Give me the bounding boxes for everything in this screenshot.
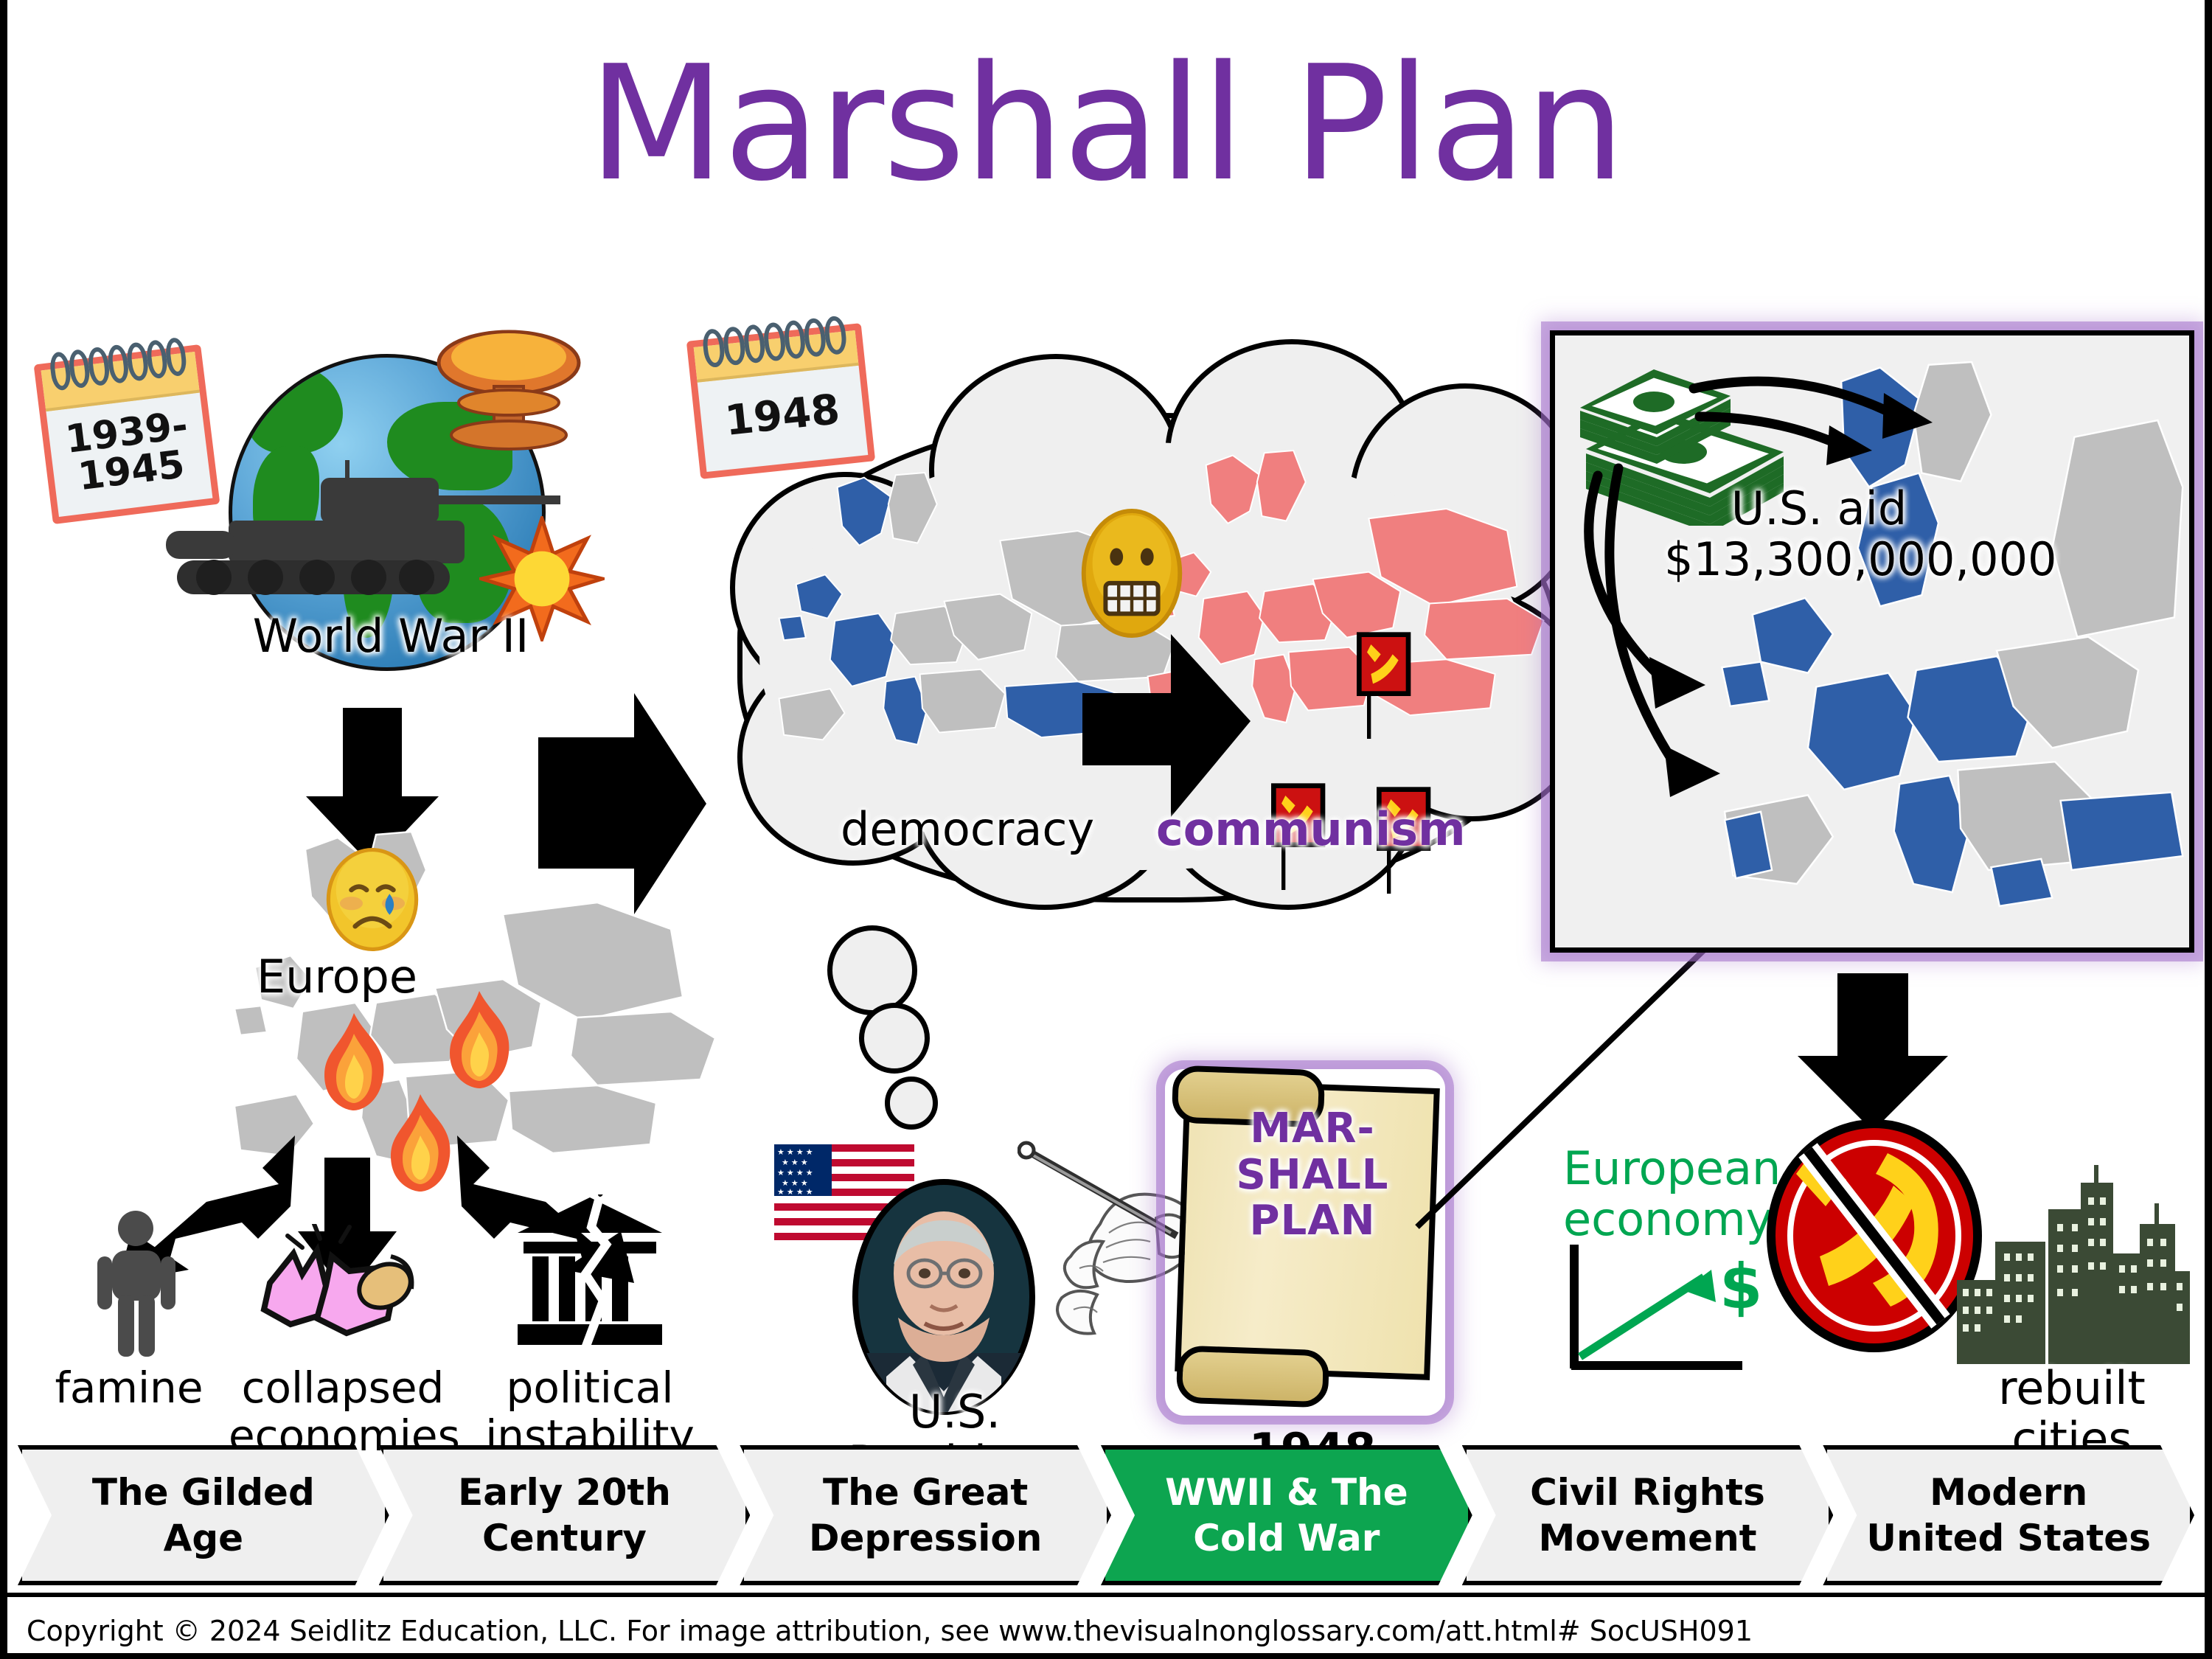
- political-instability-line1: political: [479, 1364, 700, 1412]
- aid-arrows: [1555, 335, 2189, 947]
- broken-piggy-bank-icon: [243, 1224, 428, 1364]
- timeline-item-line1: The Gilded: [92, 1471, 315, 1514]
- page-title: Marshall Plan: [7, 44, 2205, 203]
- grimacing-face-icon: [1077, 509, 1187, 638]
- hammer-and-sickle-flag-icon: [1355, 630, 1414, 741]
- city-skyline-icon: [1954, 1165, 2190, 1364]
- timeline-item-gilded-age[interactable]: The Gilded Age: [18, 1445, 389, 1585]
- footer-bottom-border: [7, 1653, 2205, 1659]
- timeline-item-civil-rights-movement[interactable]: Civil Rights Movement: [1462, 1445, 1834, 1585]
- collapsed-economies-line1: collapsed: [229, 1364, 457, 1412]
- timeline-item-modern-united-states[interactable]: Modern United States: [1823, 1445, 2194, 1585]
- calendar-year: 1948: [697, 361, 868, 472]
- svg-text:★ ★ ★: ★ ★ ★: [782, 1158, 808, 1167]
- timeline-item-line1: Modern: [1930, 1471, 2087, 1514]
- truman-portrait-avatar: [848, 1176, 1040, 1419]
- infographic-page: Marshall Plan 1939- 1945: [0, 0, 2212, 1659]
- europe-label: Europe: [257, 951, 417, 1002]
- svg-text:★ ★ ★ ★: ★ ★ ★ ★: [777, 1148, 813, 1157]
- calendar-1948: 1948: [686, 323, 875, 479]
- thought-trail-dot: [859, 1003, 930, 1074]
- timeline-item-line1: The Great: [823, 1471, 1028, 1514]
- timeline[interactable]: The Gilded Age Early 20th Century The Gr…: [18, 1445, 2194, 1585]
- timeline-item-line2: Cold War: [1193, 1517, 1380, 1559]
- broken-government-building-icon: [509, 1194, 671, 1349]
- us-aid-label: U.S. aid $13,300,000,000: [1664, 483, 1974, 585]
- us-aid-amount: $13,300,000,000: [1664, 534, 1974, 585]
- timeline-item-wwii-cold-war[interactable]: WWII & The Cold War: [1101, 1445, 1472, 1585]
- famine-label: famine: [29, 1364, 229, 1412]
- copyright-text: Copyright © 2024 Seidlitz Education, LLC…: [27, 1615, 1753, 1647]
- svg-text:★ ★ ★ ★: ★ ★ ★ ★: [777, 1188, 813, 1197]
- crying-face-icon: [324, 848, 420, 951]
- thought-trail-dot: [885, 1077, 938, 1130]
- democracy-label: democracy: [841, 804, 1094, 855]
- timeline-item-line2: Age: [164, 1517, 243, 1559]
- us-aid-panel: U.S. aid $13,300,000,000: [1550, 330, 2194, 953]
- arrow-down-aid-to-results: [1792, 973, 1954, 1135]
- timeline-item-line2: United States: [1866, 1517, 2151, 1559]
- timeline-item-line2: Movement: [1538, 1517, 1756, 1559]
- us-aid-label-line1: U.S. aid: [1664, 483, 1974, 534]
- timeline-item-line2: Century: [482, 1517, 647, 1559]
- rebuilt-cities-line1: rebuilt: [1954, 1363, 2190, 1413]
- fire-icon: [435, 988, 524, 1091]
- timeline-item-line1: Civil Rights: [1530, 1471, 1765, 1514]
- svg-text:★ ★ ★: ★ ★ ★: [782, 1179, 808, 1188]
- timeline-item-line2: Depression: [809, 1517, 1042, 1559]
- footer-divider: [7, 1593, 2205, 1597]
- timeline-item-great-depression[interactable]: The Great Depression: [740, 1445, 1111, 1585]
- arrow-right-democracy-to-communism: [1082, 634, 1252, 818]
- mushroom-cloud-icon: [428, 324, 590, 472]
- scroll-roll-bottom: [1176, 1345, 1330, 1408]
- communism-label: communism: [1156, 804, 1466, 855]
- dollar-sign-icon: $: [1719, 1251, 1762, 1323]
- thought-trail-dot: [827, 925, 917, 1015]
- svg-text:★ ★ ★ ★: ★ ★ ★ ★: [777, 1169, 813, 1178]
- timeline-item-line1: WWII & The: [1165, 1471, 1408, 1514]
- timeline-item-line1: Early 20th: [458, 1471, 671, 1514]
- timeline-item-early-20th-century[interactable]: Early 20th Century: [379, 1445, 751, 1585]
- world-war-2-label: World War II: [236, 611, 546, 661]
- person-icon: [88, 1209, 184, 1357]
